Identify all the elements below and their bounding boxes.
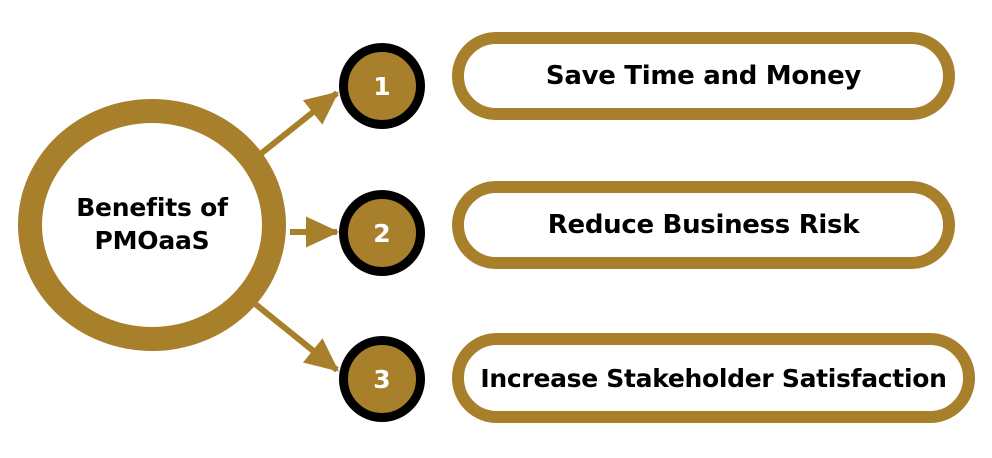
connector-arrow-1	[253, 93, 337, 160]
benefit-label-3: Increase Stakeholder Satisfaction	[480, 364, 946, 393]
connector-arrow-3	[254, 303, 337, 370]
step-badge-2: 2	[339, 190, 425, 276]
benefit-box-3: Increase Stakeholder Satisfaction	[452, 333, 975, 423]
benefit-box-2: Reduce Business Risk	[452, 181, 955, 269]
benefit-label-2: Reduce Business Risk	[548, 210, 859, 240]
hub-label: Benefits of PMOaaS	[76, 191, 228, 259]
step-badge-1: 1	[339, 43, 425, 129]
step-badge-number-2: 2	[373, 221, 390, 246]
benefit-label-1: Save Time and Money	[546, 61, 861, 91]
step-badge-3: 3	[339, 336, 425, 422]
central-hub-circle: Benefits of PMOaaS	[18, 99, 286, 351]
step-badge-number-3: 3	[373, 367, 390, 392]
step-badge-number-1: 1	[373, 74, 390, 99]
benefit-box-1: Save Time and Money	[452, 32, 955, 120]
benefits-diagram: Benefits of PMOaaS 1 2 3 Save Time and M…	[0, 0, 992, 458]
